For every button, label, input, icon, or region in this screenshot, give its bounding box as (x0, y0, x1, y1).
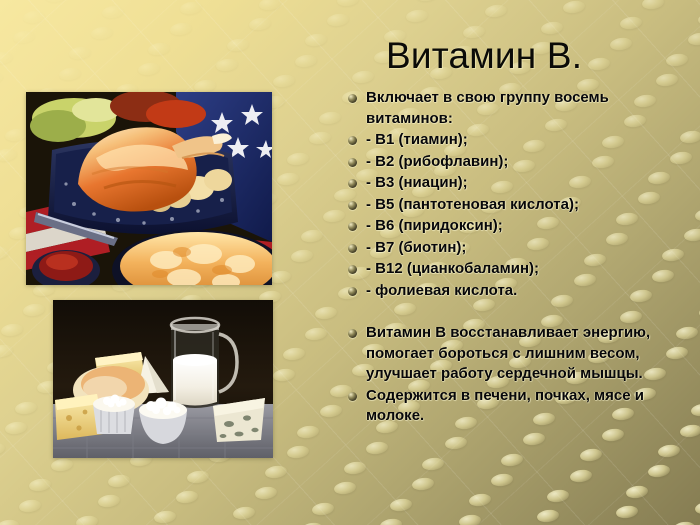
dairy-products-illustration (53, 300, 273, 458)
bullet-marker-icon (348, 287, 357, 296)
texture-bead (176, 490, 199, 505)
texture-bead (69, 46, 92, 61)
list-item: - В1 (тиамин); (348, 130, 696, 151)
texture-bead (216, 58, 239, 73)
texture-bead (0, 50, 13, 65)
list-item-label: - фолиевая кислота. (366, 281, 696, 302)
bullet-marker-icon (348, 265, 357, 274)
texture-bead (0, 246, 9, 261)
texture-bead (422, 456, 445, 471)
bullet-marker-icon (348, 392, 357, 401)
texture-bead (294, 53, 317, 68)
texture-bead (51, 457, 74, 472)
texture-bead (154, 510, 177, 525)
texture-bead (305, 33, 328, 48)
list-item-label: Содержится в печени, почках, мясе и моло… (366, 386, 696, 427)
texture-bead (327, 13, 350, 28)
bullet-marker-icon (348, 201, 357, 210)
texture-bead (107, 473, 130, 488)
texture-bead (315, 306, 338, 321)
texture-bead (319, 404, 342, 419)
texture-bead (169, 21, 192, 36)
bullet-list: Включает в свою группу восемь витаминов:… (348, 88, 696, 428)
texture-bead (537, 509, 560, 524)
list-item: - В7 (биотин); (348, 238, 696, 259)
texture-bead (343, 461, 366, 476)
texture-bead (389, 497, 412, 512)
list-item-label: - В2 (рибофлавин); (366, 152, 696, 173)
texture-bead (490, 472, 513, 487)
texture-bead (311, 501, 334, 516)
texture-bead (619, 16, 642, 31)
texture-bead (272, 367, 295, 382)
texture-bead (688, 32, 700, 47)
list-item: - В2 (рибофлавин); (348, 152, 696, 173)
texture-bead (75, 514, 98, 525)
texture-bead (58, 66, 81, 81)
texture-bead (323, 208, 346, 223)
texture-bead (458, 513, 481, 525)
texture-bead (484, 4, 507, 19)
texture-bead (563, 0, 586, 15)
texture-bead (405, 8, 428, 23)
texture-bead (365, 440, 388, 455)
texture-bead (147, 42, 170, 57)
texture-bead (186, 469, 209, 484)
texture-bead (12, 30, 35, 45)
texture-bead (601, 427, 624, 442)
list-item-label: - В1 (тиамин); (366, 130, 696, 151)
texture-bead (412, 477, 435, 492)
texture-bead (658, 443, 681, 458)
texture-bead (579, 448, 602, 463)
texture-bead (0, 323, 23, 338)
texture-bead (254, 485, 277, 500)
texture-bead (309, 131, 332, 146)
slide: Витамин В. Включает в свою группу восемь… (0, 0, 700, 525)
texture-bead (286, 151, 309, 166)
texture-bead (226, 37, 249, 52)
texture-bead (137, 62, 160, 77)
list-item: - В6 (пиридоксин); (348, 216, 696, 237)
texture-bead (290, 249, 313, 264)
texture-bead (283, 347, 306, 362)
texture-bead (0, 148, 17, 163)
texture-bead (179, 1, 202, 16)
texture-bead (14, 400, 37, 415)
bullet-marker-icon (348, 329, 357, 338)
texture-bead (91, 25, 114, 40)
bullet-marker-icon (348, 222, 357, 231)
texture-bead (305, 326, 328, 341)
bullet-marker-icon (348, 179, 357, 188)
texture-bead (625, 484, 648, 499)
texture-bead (0, 519, 20, 525)
texture-bead (648, 464, 671, 479)
list-item: Содержится в печени, почках, мясе и моло… (348, 386, 696, 427)
texture-bead (333, 481, 356, 496)
texture-bead (297, 424, 320, 439)
texture-bead (4, 421, 27, 436)
texture-bead (569, 468, 592, 483)
texture-bead (18, 498, 41, 513)
texture-bead (272, 74, 295, 89)
bullet-marker-icon (348, 158, 357, 167)
texture-bead (547, 489, 570, 504)
texture-bead (0, 70, 3, 85)
texture-bead (97, 494, 120, 509)
texture-bead (287, 444, 310, 459)
roast-turkey-illustration (26, 92, 272, 285)
texture-bead (500, 452, 523, 467)
list-item-label: - В7 (биотин); (366, 238, 696, 259)
list-item: Витамин В восстанавливает энергию, помог… (348, 323, 696, 385)
list-item: - фолиевая кислота. (348, 281, 696, 302)
dairy-products-photo (53, 300, 273, 458)
texture-bead (468, 493, 491, 508)
texture-bead (351, 69, 374, 84)
texture-bead (337, 0, 360, 7)
list-item-label: - В5 (пантотеновая кислота); (366, 195, 696, 216)
texture-bead (415, 0, 438, 3)
page-title: Витамин В. (386, 33, 686, 79)
texture-bead (319, 110, 342, 125)
list-item-label: Витамин В восстанавливает энергию, помог… (366, 323, 696, 385)
texture-bead (694, 500, 700, 515)
bullet-marker-icon (348, 94, 357, 103)
texture-bead (29, 478, 52, 493)
list-item: - В3 (ниацин); (348, 173, 696, 194)
texture-bead (22, 9, 45, 24)
list-item: - В12 (цианкобаламин); (348, 259, 696, 280)
texture-bead (444, 436, 467, 451)
texture-bead (615, 505, 638, 520)
list-item-label: Включает в свою группу восемь витаминов: (366, 88, 696, 129)
texture-bead (22, 303, 45, 318)
texture-bead (194, 78, 217, 93)
list-item-label: - В6 (пиридоксин); (366, 216, 696, 237)
roast-turkey-photo (26, 92, 272, 285)
texture-bead (258, 0, 281, 11)
texture-bead (276, 172, 299, 187)
list-item-label: - В3 (ниацин); (366, 173, 696, 194)
texture-bead (379, 518, 402, 525)
bullet-marker-icon (348, 136, 357, 145)
list-item: - В5 (пантотеновая кислота); (348, 195, 696, 216)
texture-bead (264, 465, 287, 480)
texture-bead (0, 441, 6, 456)
texture-bead (301, 228, 324, 243)
texture-bead (4, 127, 27, 142)
texture-bead (672, 521, 695, 525)
texture-bead (641, 0, 664, 10)
list-item-label: - В12 (цианкобаламин); (366, 259, 696, 280)
texture-bead (44, 0, 67, 4)
texture-bead (232, 506, 255, 521)
texture-bead (0, 343, 14, 358)
list-item: Включает в свою группу восемь витаминов: (348, 88, 696, 129)
bullet-marker-icon (348, 244, 357, 253)
texture-bead (248, 17, 271, 32)
texture-bead (101, 5, 124, 20)
texture-bead (522, 432, 545, 447)
